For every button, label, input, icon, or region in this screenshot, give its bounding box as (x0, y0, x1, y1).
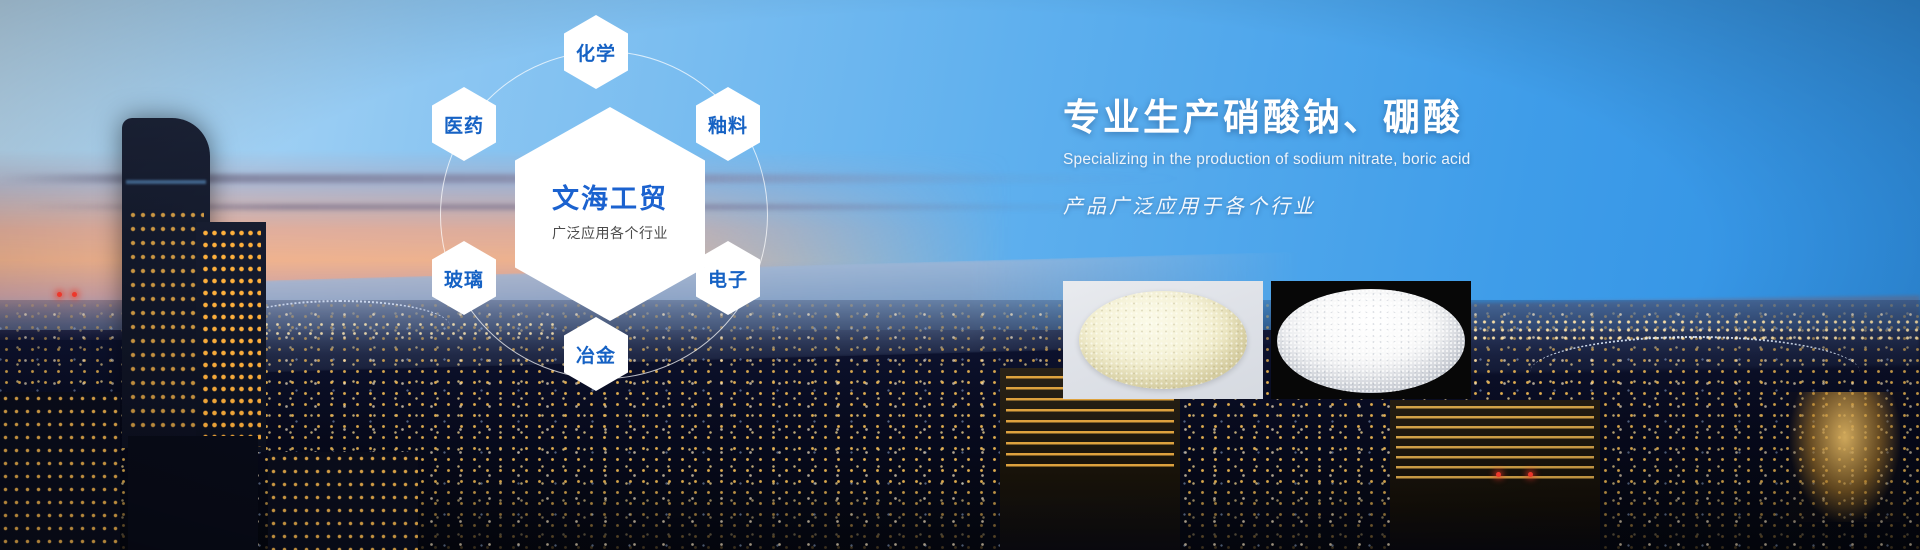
hex-badge-label: 釉料 (708, 111, 748, 138)
headline-chinese: 专业生产硝酸钠、硼酸 (1063, 95, 1783, 141)
hex-badge-label: 玻璃 (444, 265, 484, 292)
vignette-overlay (0, 0, 1920, 550)
hex-badge-label: 医药 (444, 111, 484, 138)
hex-badge-label: 电子 (708, 265, 748, 292)
product-photo-group (1063, 281, 1471, 399)
company-name: 文海工贸 (552, 185, 668, 215)
product-photo-boric-acid[interactable] (1271, 281, 1471, 399)
headline-block: 专业生产硝酸钠、硼酸 Specializing in the productio… (1063, 95, 1783, 219)
hex-badge-label: 化学 (576, 39, 616, 66)
promo-banner: 化学 釉料 电子 冶金 玻璃 医药 文海工贸 广泛应用各个行业 专业生产硝酸钠、… (0, 0, 1920, 550)
powder-grain-texture (1277, 289, 1465, 393)
industry-hexagon-diagram: 化学 釉料 电子 冶金 玻璃 医药 文海工贸 广泛应用各个行业 (430, 25, 790, 425)
product-photo-sodium-nitrate[interactable] (1063, 281, 1263, 399)
headline-tagline: 产品广泛应用于各个行业 (1063, 190, 1783, 219)
powder-grain-texture (1079, 291, 1247, 389)
background-cityscape-image (0, 0, 1920, 550)
hex-badge-label: 冶金 (576, 341, 616, 368)
company-tagline: 广泛应用各个行业 (552, 223, 668, 243)
headline-english: Specializing in the production of sodium… (1063, 151, 1783, 169)
